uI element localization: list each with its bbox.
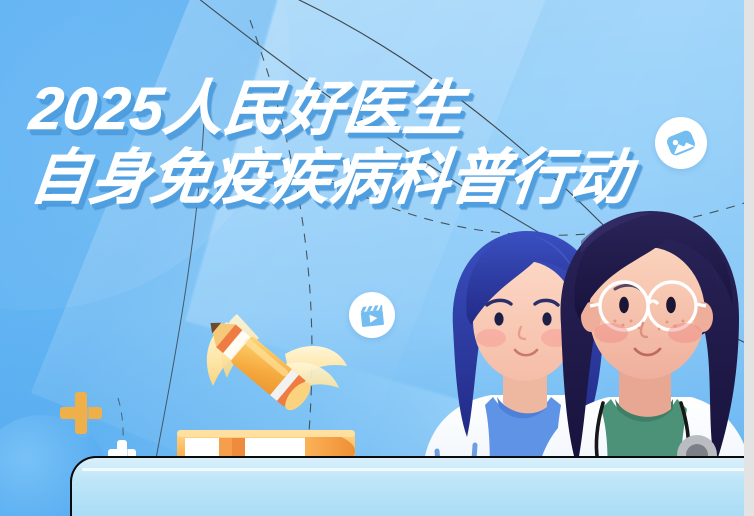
plus-orange-icon (60, 392, 102, 434)
poster-banner: 2025人民好医生 自身免疫疾病科普行动 (0, 0, 754, 516)
video-icon[interactable] (349, 292, 395, 338)
right-margin-strip (744, 0, 754, 516)
photo-icon[interactable] (655, 117, 707, 169)
bottom-panel (70, 456, 754, 516)
title-line-1: 2025人民好医生 (27, 78, 633, 139)
title-line-2: 自身免疫疾病科普行动 (27, 147, 633, 208)
poster-title: 2025人民好医生 自身免疫疾病科普行动 (30, 78, 630, 208)
